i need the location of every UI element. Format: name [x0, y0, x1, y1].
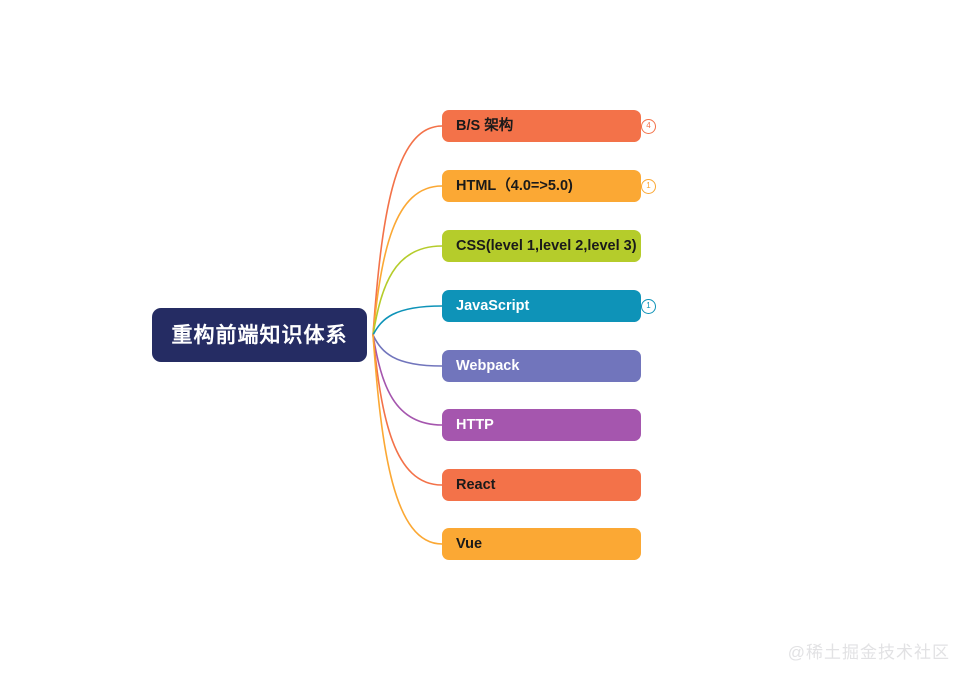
branch-node[interactable]: JavaScript — [442, 290, 641, 322]
branch-node-label: Webpack — [442, 359, 519, 374]
branch-connector — [373, 186, 442, 335]
root-node[interactable]: 重构前端知识体系 — [152, 308, 367, 362]
branch-node-label: HTTP — [442, 418, 494, 433]
branch-node-label: JavaScript — [442, 299, 529, 314]
branch-count-badge[interactable]: 1 — [641, 299, 656, 314]
branch-node[interactable]: Webpack — [442, 350, 641, 382]
branch-count-badge[interactable]: 4 — [641, 119, 656, 134]
branch-node-label: CSS(level 1,level 2,level 3) — [442, 239, 637, 254]
branch-connector — [373, 335, 442, 366]
branch-node[interactable]: React — [442, 469, 641, 501]
branch-connector — [373, 335, 442, 544]
branch-node[interactable]: B/S 架构 — [442, 110, 641, 142]
branch-connector — [373, 335, 442, 485]
root-node-label: 重构前端知识体系 — [172, 325, 348, 346]
branch-node[interactable]: Vue — [442, 528, 641, 560]
mindmap-canvas: 重构前端知识体系 B/S 架构4HTML（4.0=>5.0)1CSS(level… — [0, 0, 972, 689]
branch-node-label: B/S 架构 — [442, 119, 513, 134]
branch-node[interactable]: CSS(level 1,level 2,level 3) — [442, 230, 641, 262]
branch-node[interactable]: HTTP — [442, 409, 641, 441]
connector-edges — [0, 0, 972, 689]
watermark: @稀土掘金技术社区 — [788, 638, 950, 663]
branch-node-label: HTML（4.0=>5.0) — [442, 179, 573, 194]
branch-node-label: React — [442, 478, 496, 493]
branch-connector — [373, 306, 442, 335]
branch-connector — [373, 126, 442, 335]
branch-count-badge[interactable]: 1 — [641, 179, 656, 194]
branch-connector — [373, 246, 442, 335]
branch-node-label: Vue — [442, 537, 482, 552]
branch-node[interactable]: HTML（4.0=>5.0) — [442, 170, 641, 202]
branch-connector — [373, 335, 442, 425]
